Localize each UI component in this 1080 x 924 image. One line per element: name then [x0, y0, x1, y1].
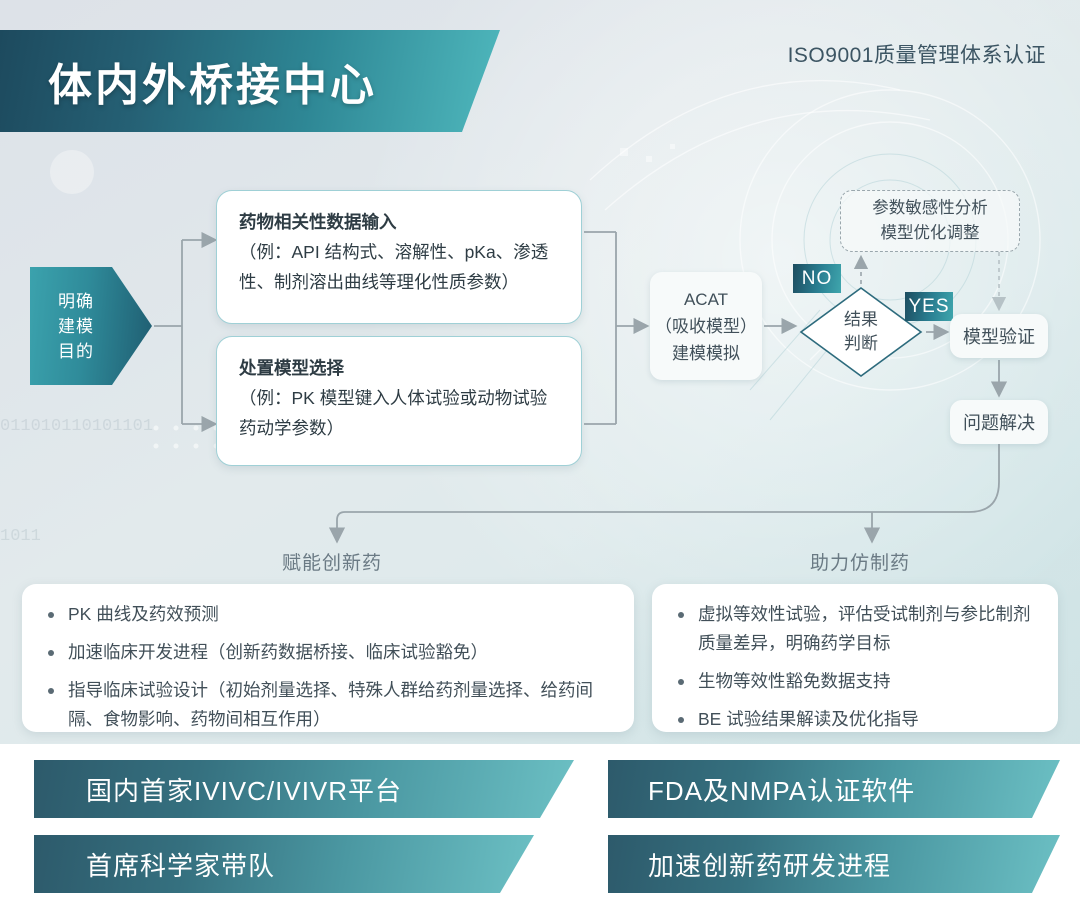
- list-item: 虚拟等效性试验，评估受试制剂与参比制剂质量差异，明确药学目标: [672, 600, 1040, 658]
- list-item-text: 虚拟等效性试验，评估受试制剂与参比制剂质量差异，明确药学目标: [698, 604, 1031, 653]
- badge-yes: YES: [905, 292, 953, 321]
- list-item: 生物等效性豁免数据支持: [672, 667, 1040, 696]
- footer-ribbon-3: 首席科学家带队: [34, 835, 534, 893]
- section-label-generic-drugs: 助力仿制药: [810, 548, 910, 575]
- box-sensitivity-line2: 模型优化调整: [872, 221, 988, 246]
- flow-start-line3: 目的: [48, 339, 104, 364]
- list-item: PK 曲线及药效预测: [42, 600, 616, 629]
- list-item-text: PK 曲线及药效预测: [68, 604, 219, 624]
- card-drug-data-input-body: （例：API 结构式、溶解性、pKa、渗透性、制剂溶出曲线等理化性质参数）: [239, 237, 561, 297]
- footer-ribbon-2-label: FDA及NMPA认证软件: [648, 771, 915, 808]
- card-drug-data-input-heading: 药物相关性数据输入: [239, 207, 561, 237]
- bullet-dot: [48, 650, 54, 656]
- box-acat-line2: （吸收模型）: [655, 313, 757, 340]
- section-label-innovative-drugs: 赋能创新药: [282, 548, 382, 575]
- box-sensitivity-analysis: 参数敏感性分析 模型优化调整: [840, 190, 1020, 252]
- list-item: 加速临床开发进程（创新药数据桥接、临床试验豁免）: [42, 638, 616, 667]
- box-sensitivity-line1: 参数敏感性分析: [872, 196, 988, 221]
- card-disposition-model-body: （例：PK 模型键入人体试验或动物试验药动学参数）: [239, 383, 561, 443]
- footer-ribbon-4: 加速创新药研发进程: [608, 835, 1060, 893]
- box-problem-solving: 问题解决: [950, 400, 1048, 444]
- list-item: BE 试验结果解读及优化指导: [672, 705, 1040, 734]
- footer-ribbon-2: FDA及NMPA认证软件: [608, 760, 1060, 818]
- card-disposition-model: 处置模型选择 （例：PK 模型键入人体试验或动物试验药动学参数）: [216, 336, 582, 466]
- list-item-text: 加速临床开发进程（创新药数据桥接、临床试验豁免）: [68, 642, 488, 662]
- footer-ribbon-1-label: 国内首家IVIVC/IVIVR平台: [86, 771, 402, 808]
- list-item: 指导临床试验设计（初始剂量选择、特殊人群给药剂量选择、给药间隔、食物影响、药物间…: [42, 676, 616, 734]
- box-acat-line1: ACAT: [655, 286, 757, 313]
- decision-line1: 结果: [844, 308, 878, 332]
- panel-generic-drugs: 虚拟等效性试验，评估受试制剂与参比制剂质量差异，明确药学目标 生物等效性豁免数据…: [652, 584, 1058, 732]
- flow-start-line2: 建模: [48, 314, 104, 339]
- bullet-dot: [48, 612, 54, 618]
- list-item-text: BE 试验结果解读及优化指导: [698, 709, 919, 729]
- card-disposition-model-heading: 处置模型选择: [239, 353, 561, 383]
- bullet-dot: [48, 688, 54, 694]
- badge-no: NO: [793, 264, 841, 293]
- flow-start-label: 明确 建模 目的: [48, 289, 104, 364]
- bullet-dot: [678, 717, 684, 723]
- bullet-dot: [678, 679, 684, 685]
- flow-start-line1: 明确: [48, 289, 104, 314]
- infographic-root: 011010110101101 1011 体内外桥接中心 ISO9001质量管理…: [0, 0, 1080, 924]
- box-model-validation: 模型验证: [950, 314, 1048, 358]
- list-item-text: 指导临床试验设计（初始剂量选择、特殊人群给药剂量选择、给药间隔、食物影响、药物间…: [68, 680, 593, 729]
- decision-line2: 判断: [844, 332, 878, 356]
- list-item-text: 生物等效性豁免数据支持: [698, 671, 891, 691]
- footer-ribbon-4-label: 加速创新药研发进程: [648, 846, 891, 883]
- footer-ribbon-1: 国内首家IVIVC/IVIVR平台: [34, 760, 574, 818]
- bullet-dot: [678, 612, 684, 618]
- box-acat-line3: 建模模拟: [655, 340, 757, 367]
- footer-ribbon-3-label: 首席科学家带队: [86, 846, 275, 883]
- box-acat-simulation: ACAT （吸收模型） 建模模拟: [650, 272, 762, 380]
- card-drug-data-input: 药物相关性数据输入 （例：API 结构式、溶解性、pKa、渗透性、制剂溶出曲线等…: [216, 190, 582, 324]
- panel-innovative-drugs: PK 曲线及药效预测 加速临床开发进程（创新药数据桥接、临床试验豁免） 指导临床…: [22, 584, 634, 732]
